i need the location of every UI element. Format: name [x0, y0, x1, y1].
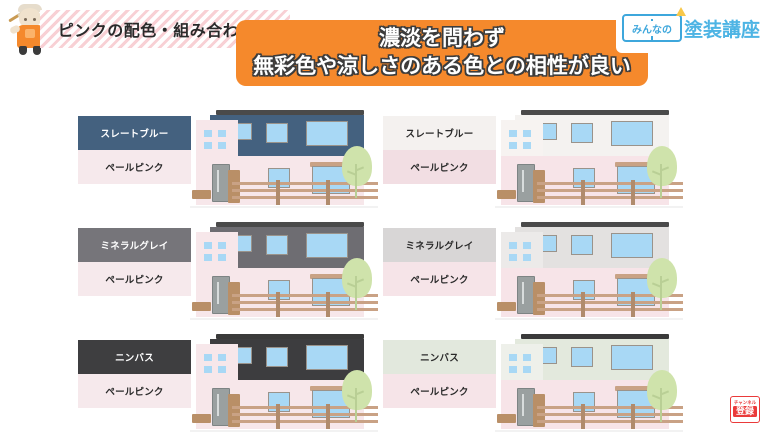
swatch-bottom-label: ペールピンク: [105, 384, 163, 398]
header: ピンクの配色・組み合わせ方 濃淡を問わず 無彩色や涼しさのある色との相性が良い …: [0, 0, 770, 96]
channel-logo: みんなの 塗装講座: [616, 3, 766, 53]
entrance-step: [192, 190, 211, 199]
window-upper-pair: [266, 347, 288, 367]
window-dot: [509, 142, 517, 149]
color-swatch: ニンバス ペールピンク: [383, 340, 496, 408]
color-swatch: スレートブルー ペールピンク: [383, 116, 496, 184]
window-upper-pair: [266, 235, 288, 255]
window-dot: [509, 254, 517, 261]
window-upper-large: [306, 233, 348, 258]
swatch-bottom-label: ペールピンク: [410, 160, 468, 174]
color-swatch: スレートブルー ペールピンク: [78, 116, 191, 184]
entrance-step: [192, 302, 211, 311]
mascot-eye-left: [24, 18, 27, 21]
sparkle-icon: [676, 7, 686, 16]
swatch-bottom: ペールピンク: [78, 374, 191, 408]
window-dot: [204, 366, 212, 373]
window-dot: [218, 130, 226, 137]
swatch-bottom: ペールピンク: [78, 262, 191, 296]
fence-post: [326, 180, 330, 205]
entrance-step: [497, 414, 516, 423]
window-dot: [204, 354, 212, 361]
swatch-bottom: ペールピンク: [383, 374, 496, 408]
tree-foliage-icon: [647, 258, 677, 298]
swatch-top-label: スレートブルー: [406, 126, 474, 140]
main-title-line-2: 無彩色や涼しさのある色との相性が良い: [253, 54, 631, 80]
swatch-top: ニンバス: [383, 340, 496, 374]
swatch-bottom: ペールピンク: [383, 150, 496, 184]
fence-post: [581, 292, 585, 317]
swatch-bottom-label: ペールピンク: [410, 384, 468, 398]
color-swatch: ニンバス ペールピンク: [78, 340, 191, 408]
ground-line: [495, 206, 683, 208]
fence-post: [326, 404, 330, 429]
window-dot: [523, 254, 531, 261]
swatch-top: ニンバス: [78, 340, 191, 374]
combination-card[interactable]: スレートブルー ペールピンク: [78, 102, 378, 214]
entrance-step: [497, 190, 516, 199]
logo-main-label: 塗装講座: [684, 15, 760, 42]
window-dot: [218, 242, 226, 249]
house-illustration: [495, 326, 683, 432]
color-swatch: ミネラルグレイ ペールピンク: [78, 228, 191, 296]
main-title-line-1: 濃淡を問わず: [379, 26, 505, 52]
swatch-top-label: ニンバス: [115, 350, 154, 364]
window-upper-large: [611, 345, 653, 370]
window-dot: [509, 354, 517, 361]
window-dot: [218, 254, 226, 261]
swatch-top-label: スレートブルー: [101, 126, 169, 140]
window-dot: [218, 354, 226, 361]
window-dot: [218, 142, 226, 149]
fence-post: [276, 180, 280, 205]
window-dot: [204, 142, 212, 149]
ground-line: [190, 318, 378, 320]
swatch-bottom-label: ペールピンク: [105, 272, 163, 286]
window-dot: [523, 130, 531, 137]
ground-line: [495, 318, 683, 320]
fence-post: [276, 404, 280, 429]
window-upper-large: [611, 121, 653, 146]
house-illustration: [495, 102, 683, 214]
tree-foliage-icon: [342, 146, 372, 186]
ground-line: [190, 206, 378, 208]
entrance-step: [497, 302, 516, 311]
swatch-bottom-label: ペールピンク: [105, 160, 163, 174]
window-dot: [204, 254, 212, 261]
main-title-banner: 濃淡を問わず 無彩色や涼しさのある色との相性が良い: [236, 20, 648, 86]
subscribe-button[interactable]: チャンネル 登録: [726, 390, 764, 428]
house-tower: [196, 232, 238, 272]
color-combination-grid: スレートブルー ペールピンク: [0, 96, 770, 432]
swatch-top-label: ミネラルグレイ: [406, 238, 474, 252]
combination-card[interactable]: ミネラルグレイ ペールピンク: [78, 214, 378, 326]
window-dot: [204, 242, 212, 249]
window-dot: [204, 130, 212, 137]
logo-minna-label: みんなの: [631, 21, 673, 36]
fence-post: [631, 404, 635, 429]
house-illustration: [495, 214, 683, 326]
window-dot: [509, 366, 517, 373]
tree-foliage-icon: [647, 146, 677, 186]
subscribe-big-label: 登録: [733, 406, 757, 417]
house-tower: [501, 344, 543, 384]
window-upper-large: [306, 121, 348, 146]
swatch-top: スレートブルー: [383, 116, 496, 150]
book-icon: みんなの: [622, 14, 682, 42]
mascot-eye-right: [33, 18, 36, 21]
entrance-step: [192, 414, 211, 423]
tree-foliage-icon: [342, 370, 372, 410]
window-dot: [523, 242, 531, 249]
swatch-bottom: ペールピンク: [383, 262, 496, 296]
swatch-top: ミネラルグレイ: [383, 228, 496, 262]
swatch-top: スレートブルー: [78, 116, 191, 150]
subscribe-badge: チャンネル 登録: [730, 396, 760, 423]
fence-post: [581, 404, 585, 429]
mascot-bib: [25, 29, 35, 38]
window-dot: [218, 366, 226, 373]
window-dot: [523, 366, 531, 373]
window-upper-pair: [571, 123, 593, 143]
window-dot: [509, 242, 517, 249]
combination-card[interactable]: ニンバス ペールピンク: [383, 326, 683, 432]
house-illustration: [190, 214, 378, 326]
window-dot: [523, 354, 531, 361]
tree-foliage-icon: [342, 258, 372, 298]
subscribe-small-label: チャンネル: [734, 401, 756, 406]
combination-card[interactable]: ニンバス ペールピンク: [78, 326, 378, 432]
fence-post: [631, 180, 635, 205]
swatch-bottom: ペールピンク: [78, 150, 191, 184]
window-upper-pair: [571, 235, 593, 255]
swatch-top-label: ミネラルグレイ: [101, 238, 169, 252]
mascot-leg-left: [19, 46, 27, 55]
window-upper-pair: [266, 123, 288, 143]
color-swatch: ミネラルグレイ ペールピンク: [383, 228, 496, 296]
fence-post: [631, 292, 635, 317]
house-illustration: [190, 102, 378, 214]
fence-post: [581, 180, 585, 205]
fence-post: [276, 292, 280, 317]
swatch-top-label: ニンバス: [420, 350, 459, 364]
house-tower: [196, 344, 238, 384]
tree-foliage-icon: [647, 370, 677, 410]
house-tower: [501, 120, 543, 160]
house-tower: [196, 120, 238, 160]
house-tower: [501, 232, 543, 272]
window-upper-pair: [571, 347, 593, 367]
combination-card[interactable]: ミネラルグレイ ペールピンク: [383, 214, 683, 326]
window-upper-large: [611, 233, 653, 258]
window-upper-large: [306, 345, 348, 370]
slide-root: ピンクの配色・組み合わせ方 濃淡を問わず 無彩色や涼しさのある色との相性が良い …: [0, 0, 770, 432]
swatch-bottom-label: ペールピンク: [410, 272, 468, 286]
window-dot: [523, 142, 531, 149]
window-dot: [509, 130, 517, 137]
fence-post: [326, 292, 330, 317]
combination-card[interactable]: スレートブルー ペールピンク: [383, 102, 683, 214]
house-illustration: [190, 326, 378, 432]
swatch-top: ミネラルグレイ: [78, 228, 191, 262]
